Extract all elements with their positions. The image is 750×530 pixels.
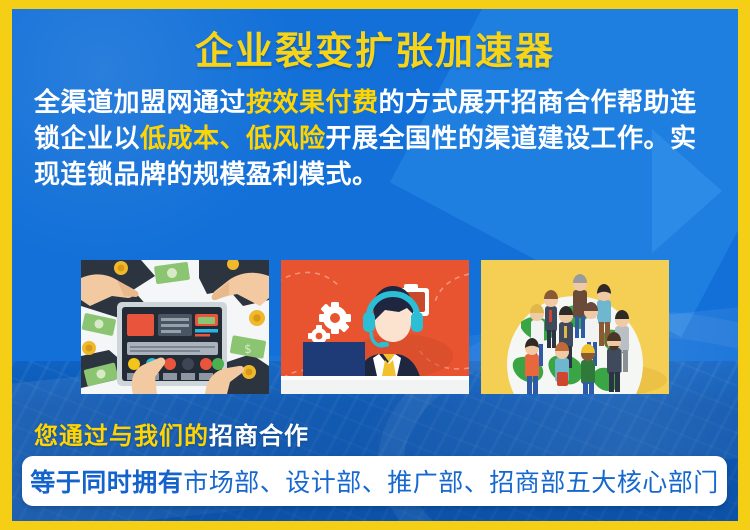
banner-content: 企业裂变扩张加速器 全渠道加盟网通过按效果付费的方式展开招商合作帮助连锁企业以低… [12,9,738,521]
cta-line: 您通过与我们的招商合作 [34,416,309,451]
highlight-ribbon: 等于同时拥有市场部、设计部、推广部、招商部五大核心部门 [22,456,727,506]
cta-emphasis: 招商合作 [209,422,309,450]
thumbnail-global-team [481,260,669,394]
ribbon-rest: 市场部、设计部、推广部、招商部五大核心部门 [183,468,719,497]
ribbon-text: 等于同时拥有市场部、设计部、推广部、招商部五大核心部门 [30,463,719,499]
description-paragraph: 全渠道加盟网通过按效果付费的方式展开招商合作帮助连锁企业以低成本、低风险开展全国… [12,86,738,194]
description-highlight-2: 低成本、低风险 [140,124,326,154]
page-title: 企业裂变扩张加速器 [12,9,738,70]
thumbnail-row: $ [12,260,738,394]
customer-service-illustration [281,260,469,394]
tablet-money-illustration: $ [81,260,269,394]
svg-text:$: $ [244,342,252,356]
promo-banner: 企业裂变扩张加速器 全渠道加盟网通过按效果付费的方式展开招商合作帮助连锁企业以低… [0,0,750,530]
ribbon-bold-part: 等于同时拥有 [30,468,183,497]
description-segment-1: 全渠道加盟网通过 [34,88,246,118]
description-highlight-1: 按效果付费 [246,88,379,118]
cta-lead: 您通过与我们的 [34,422,209,450]
banner-panel: 企业裂变扩张加速器 全渠道加盟网通过按效果付费的方式展开招商合作帮助连锁企业以低… [12,9,738,521]
thumbnail-tablet-money: $ [81,260,269,394]
thumbnail-customer-service [281,260,469,394]
global-team-illustration [481,260,669,394]
